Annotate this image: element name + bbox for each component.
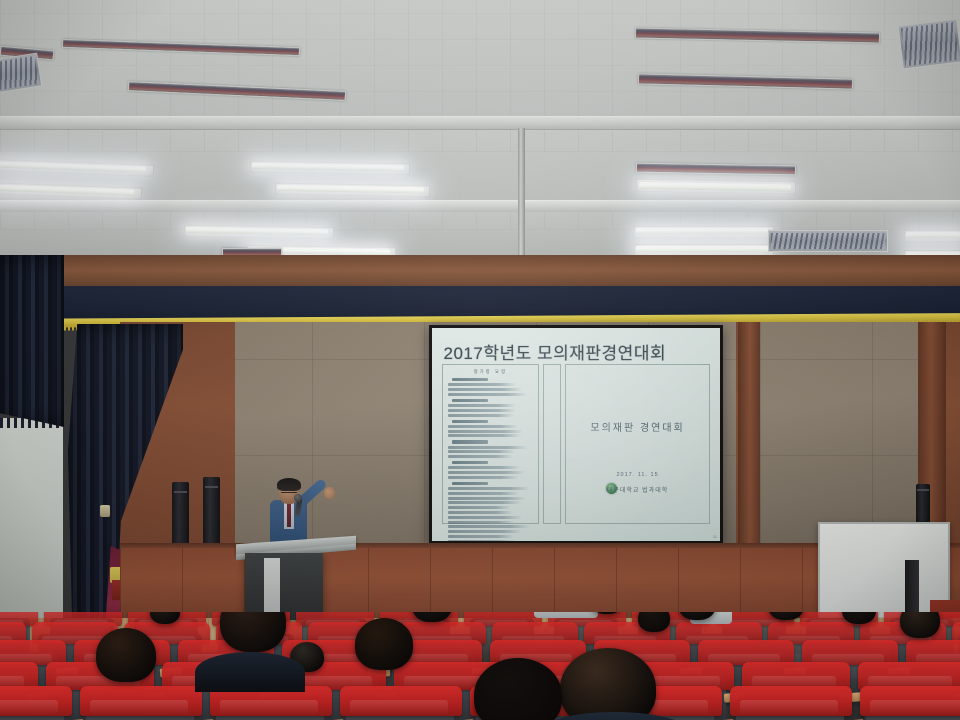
slide-body-line [448,455,513,458]
slide-body-line [448,404,516,407]
speaker-tie [287,503,291,527]
slide-columns: 평가항 요령 모의재판 경연대회 2017. 11. 15 대구대학교 법과대학 [442,364,710,524]
ceiling-vent [768,230,888,252]
slide-section-heading [452,399,487,402]
audience-seating [0,612,960,720]
slide-body-line [448,540,517,541]
ceiling-vent [898,19,960,70]
slide-right-organization: 대구대학교 법과대학 [566,485,709,494]
slide-body-line [448,525,530,528]
projection-screen: 2017학년도 모의재판경연대회 평가항 요령 모의재판 경연대회 2017. … [429,325,723,544]
slide-body-line [448,530,521,533]
microphone-head [294,494,302,502]
slide-left-column: 평가항 요령 [442,364,538,524]
ceiling-light-on [636,228,768,234]
slide-right-date: 2017. 11. 15 [566,472,709,478]
seat-highlight [870,700,960,715]
slide-title: 2017학년도 모의재판경연대회 [444,339,712,364]
slide-right-column: 모의재판 경연대회 2017. 11. 15 대구대학교 법과대학 [565,364,710,524]
curtain-tieback [100,505,110,517]
auditorium-photo: 2017학년도 모의재판경연대회 평가항 요령 모의재판 경연대회 2017. … [0,0,960,720]
slide-body-line [448,466,520,469]
slide-section-heading [452,440,487,443]
stage-wall-panel-right [760,322,918,552]
slide-body-line [448,497,526,500]
stage-wall-pilaster [738,322,762,558]
slide-body-line [448,516,522,519]
slide-page-number: 11 [713,534,717,539]
seat-highlight [740,700,838,715]
slide-section-heading [452,378,487,381]
slide-body-line [448,383,516,386]
slide-body-line [448,434,521,437]
audience-member-head [638,612,670,632]
podium-front-panel [264,558,280,620]
audience-member-head [355,618,413,670]
projected-slide: 2017학년도 모의재판경연대회 평가항 요령 모의재판 경연대회 2017. … [432,328,720,541]
slide-body-line [448,430,523,433]
slide-body-line [448,450,515,453]
slide-body-line [448,535,514,538]
ceiling [0,0,960,262]
audience-member-head [560,648,656,720]
slide-body-line [448,487,530,490]
slide-body-line [448,511,513,514]
audience-member-torso [534,612,598,618]
slide-middle-spacer [543,364,562,524]
slide-body-line [448,501,521,504]
ceiling-light-on [906,232,960,238]
slide-body-line [448,446,528,449]
audience-member-shoulders [195,652,305,692]
slide-section-heading [452,461,487,464]
slide-body-line [448,521,515,524]
slide-section-heading [452,420,487,423]
speaker-hand [324,487,335,499]
slide-body-line [448,393,527,396]
slide-body-line [448,425,518,428]
audience-member-head [96,628,156,682]
stage-curtain-upper-left [0,255,64,427]
slide-right-title: 모의재판 경연대회 [566,419,709,434]
slide-body-line [448,506,511,509]
slide-body-line [448,471,525,474]
slide-left-heading: 평가항 요령 [448,369,532,375]
podium[interactable] [245,553,323,620]
slide-body-line [448,388,522,391]
slide-section-heading [452,482,487,485]
slide-body-line [448,492,519,495]
seat-highlight [220,700,318,715]
speaker-glasses [281,488,297,493]
slide-body-line [448,414,514,417]
slide-body-line [448,409,516,412]
slide-left-body-text [448,378,532,541]
ceiling-light-on [636,246,768,252]
seat-highlight [90,700,188,715]
audience-member-head [900,612,940,638]
seat-highlight [0,700,58,715]
slide-body-line [448,476,519,479]
seat-highlight [350,700,448,715]
